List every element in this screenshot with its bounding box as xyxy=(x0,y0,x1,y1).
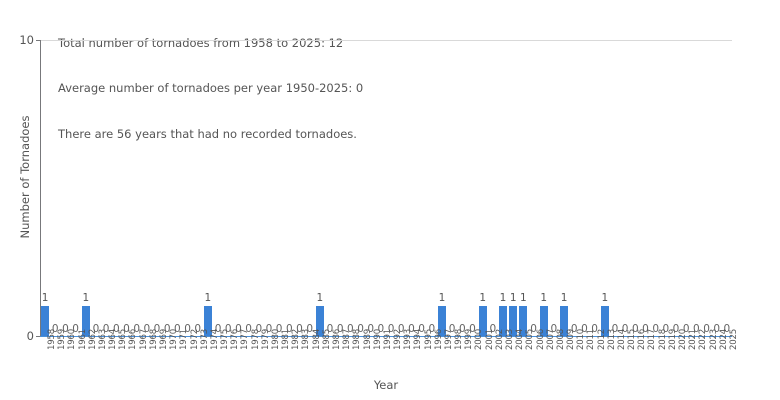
bar-slot: 1 xyxy=(437,40,447,336)
x-axis-tick-label: 2010 xyxy=(577,322,586,350)
x-axis-tick-label: 2006 xyxy=(537,322,546,350)
bar-slot: 0 xyxy=(712,40,722,336)
bar-slot: 0 xyxy=(264,40,274,336)
bar-slot: 0 xyxy=(274,40,284,336)
bar-slot: 1 xyxy=(539,40,549,336)
x-axis-tick-label: 1984 xyxy=(313,322,322,350)
x-axis-tick-label: 2012 xyxy=(598,322,607,350)
bar-slot: 0 xyxy=(111,40,121,336)
bar-slot: 0 xyxy=(681,40,691,336)
x-axis-tick-label: 2009 xyxy=(567,322,576,350)
x-axis-tick-label: 1958 xyxy=(48,322,57,350)
x-axis-tick-label: 1963 xyxy=(99,322,108,350)
bar-slot: 0 xyxy=(223,40,233,336)
x-axis-tick-label: 2024 xyxy=(720,322,729,350)
bar-slot: 0 xyxy=(467,40,477,336)
bar-slot: 0 xyxy=(590,40,600,336)
bar-slot: 0 xyxy=(162,40,172,336)
x-axis-tick-label: 1973 xyxy=(201,322,210,350)
bar-slot: 0 xyxy=(172,40,182,336)
x-axis-tick-label: 1983 xyxy=(302,322,311,350)
bar-value-label: 1 xyxy=(203,293,213,304)
x-axis-tick-label: 2008 xyxy=(557,322,566,350)
x-axis-tick-label: 2007 xyxy=(547,322,556,350)
x-axis-tick-label: 1975 xyxy=(221,322,230,350)
bar-slot: 0 xyxy=(213,40,223,336)
x-axis-tick-label: 1960 xyxy=(68,322,77,350)
bar-slot: 1 xyxy=(498,40,508,336)
x-axis-tick-label: 1966 xyxy=(129,322,138,350)
bar-slot: 0 xyxy=(244,40,254,336)
x-axis-tick-label: 1987 xyxy=(343,322,352,350)
bar-slot: 0 xyxy=(488,40,498,336)
x-axis-tick-labels: 1958195919601961196219631964196519661967… xyxy=(40,338,732,378)
x-axis-tick-label: 1988 xyxy=(353,322,362,350)
x-axis-tick-label: 1990 xyxy=(374,322,383,350)
bar-slot: 0 xyxy=(406,40,416,336)
tornado-bar-chart: Total number of tornadoes from 1958 to 2… xyxy=(0,0,780,400)
bar-slot: 0 xyxy=(71,40,81,336)
bar-slot: 0 xyxy=(121,40,131,336)
x-axis-tick-label: 2013 xyxy=(608,322,617,350)
x-axis-tick-label: 1998 xyxy=(455,322,464,350)
x-axis-tick-label: 1961 xyxy=(79,322,88,350)
bar-slot: 0 xyxy=(376,40,386,336)
x-axis-tick-label: 2023 xyxy=(710,322,719,350)
bar-slot: 0 xyxy=(294,40,304,336)
bar-slot: 1 xyxy=(518,40,528,336)
x-axis-tick-label: 2017 xyxy=(648,322,657,350)
x-axis-tick-label: 1991 xyxy=(384,322,393,350)
x-axis-tick-label: 1981 xyxy=(282,322,291,350)
bar-slot: 1 xyxy=(559,40,569,336)
bar-slot: 0 xyxy=(528,40,538,336)
bar-slot: 0 xyxy=(233,40,243,336)
y-axis-tick-label-10: 10 xyxy=(4,33,34,47)
bar-slot: 0 xyxy=(447,40,457,336)
bar-slot: 0 xyxy=(630,40,640,336)
bar-slot: 0 xyxy=(691,40,701,336)
plot-area: 1000100000000000100000000001000000000001… xyxy=(40,40,732,336)
x-axis-tick-label: 1985 xyxy=(323,322,332,350)
x-axis-tick-label: 2018 xyxy=(659,322,668,350)
x-axis-tick-label: 1971 xyxy=(180,322,189,350)
bar-slot: 0 xyxy=(60,40,70,336)
bar-slot: 0 xyxy=(610,40,620,336)
x-axis-tick-label: 1962 xyxy=(89,322,98,350)
bar-slot: 0 xyxy=(182,40,192,336)
x-axis-tick-label: 2000 xyxy=(475,322,484,350)
bar-value-label: 1 xyxy=(498,293,508,304)
x-axis-tick-label: 2015 xyxy=(628,322,637,350)
bar-value-label: 1 xyxy=(81,293,91,304)
x-axis-tick-label: 1964 xyxy=(109,322,118,350)
bar-slot: 0 xyxy=(620,40,630,336)
bar-slot: 0 xyxy=(284,40,294,336)
bar-slot: 0 xyxy=(193,40,203,336)
bar-slot: 0 xyxy=(701,40,711,336)
bar-slot: 0 xyxy=(569,40,579,336)
x-axis-tick-label: 2025 xyxy=(730,322,739,350)
x-axis-tick-label: 2016 xyxy=(638,322,647,350)
bar-slot: 0 xyxy=(579,40,589,336)
bar-slot: 1 xyxy=(600,40,610,336)
bar-slot: 0 xyxy=(366,40,376,336)
bar-value-label: 1 xyxy=(539,293,549,304)
x-axis-tick-label: 1980 xyxy=(272,322,281,350)
x-axis-tick-label: 1970 xyxy=(170,322,179,350)
x-axis-tick-label: 1999 xyxy=(465,322,474,350)
bar-value-label: 1 xyxy=(315,293,325,304)
x-axis-tick-label: 1992 xyxy=(394,322,403,350)
bar-slot: 1 xyxy=(40,40,50,336)
bar-slot: 0 xyxy=(549,40,559,336)
x-axis-tick-label: 1979 xyxy=(262,322,271,350)
bar-slot: 1 xyxy=(203,40,213,336)
x-axis-tick-label: 1972 xyxy=(191,322,200,350)
x-axis-tick-label: 2021 xyxy=(689,322,698,350)
x-axis-tick-label: 1993 xyxy=(404,322,413,350)
bar-slot: 0 xyxy=(254,40,264,336)
x-axis-tick-label: 1977 xyxy=(241,322,250,350)
x-axis-tick-label: 2001 xyxy=(486,322,495,350)
y-axis-title: Number of Tornadoes xyxy=(18,97,32,257)
bar-slot: 0 xyxy=(661,40,671,336)
bar-slot: 0 xyxy=(335,40,345,336)
bar-slot: 0 xyxy=(355,40,365,336)
bar-slot: 0 xyxy=(91,40,101,336)
x-axis-tick-label: 1974 xyxy=(211,322,220,350)
x-axis-tick-label: 2004 xyxy=(516,322,525,350)
x-axis-tick-label: 1969 xyxy=(160,322,169,350)
x-axis-title: Year xyxy=(40,378,732,392)
bar-slot: 0 xyxy=(722,40,732,336)
bar-slot: 0 xyxy=(396,40,406,336)
x-axis-tick-label: 1976 xyxy=(231,322,240,350)
x-axis-tick-label: 1968 xyxy=(150,322,159,350)
x-axis-tick-label: 1986 xyxy=(333,322,342,350)
bar-slot: 0 xyxy=(427,40,437,336)
x-axis-tick-label: 2005 xyxy=(526,322,535,350)
bar-slot: 0 xyxy=(417,40,427,336)
x-axis-tick-label: 1995 xyxy=(425,322,434,350)
bar-slot: 0 xyxy=(640,40,650,336)
x-axis-tick-label: 2022 xyxy=(699,322,708,350)
bar-value-label: 1 xyxy=(437,293,447,304)
x-axis-tick-label: 2002 xyxy=(496,322,505,350)
bar-slot: 1 xyxy=(478,40,488,336)
x-axis-tick-label: 1967 xyxy=(140,322,149,350)
x-axis-tick-label: 1997 xyxy=(445,322,454,350)
bar-slot: 1 xyxy=(81,40,91,336)
bar-value-label: 1 xyxy=(478,293,488,304)
x-axis-tick-label: 2003 xyxy=(506,322,515,350)
x-axis-tick-label: 2020 xyxy=(679,322,688,350)
bar-slot: 0 xyxy=(305,40,315,336)
bar-slot: 0 xyxy=(142,40,152,336)
x-axis-tick-label: 2019 xyxy=(669,322,678,350)
bar-value-label: 1 xyxy=(600,293,610,304)
bar-slot: 0 xyxy=(457,40,467,336)
x-axis-tick-label: 2011 xyxy=(587,322,596,350)
bar-slot: 0 xyxy=(132,40,142,336)
x-axis-tick-label: 1996 xyxy=(435,322,444,350)
x-axis-tick-label: 1959 xyxy=(58,322,67,350)
bar-slot: 1 xyxy=(315,40,325,336)
bar-slot: 0 xyxy=(651,40,661,336)
bar-slot: 0 xyxy=(152,40,162,336)
bar-value-label: 1 xyxy=(559,293,569,304)
bar-slot: 0 xyxy=(386,40,396,336)
x-axis-tick-label: 1982 xyxy=(292,322,301,350)
bar-slot: 0 xyxy=(50,40,60,336)
bar-slot: 0 xyxy=(345,40,355,336)
bar-slot: 0 xyxy=(671,40,681,336)
x-axis-tick-label: 2014 xyxy=(618,322,627,350)
bar-value-label: 1 xyxy=(508,293,518,304)
x-axis-tick-label: 1994 xyxy=(414,322,423,350)
bar-value-label: 1 xyxy=(518,293,528,304)
bar-slot: 1 xyxy=(508,40,518,336)
x-axis-tick-label: 1978 xyxy=(252,322,261,350)
x-axis-tick-label: 1965 xyxy=(119,322,128,350)
bar-slot: 0 xyxy=(101,40,111,336)
y-axis-tick-label-0: 0 xyxy=(4,329,34,343)
bar-value-label: 1 xyxy=(40,293,50,304)
x-axis-tick-label: 1989 xyxy=(364,322,373,350)
bar-slot: 0 xyxy=(325,40,335,336)
